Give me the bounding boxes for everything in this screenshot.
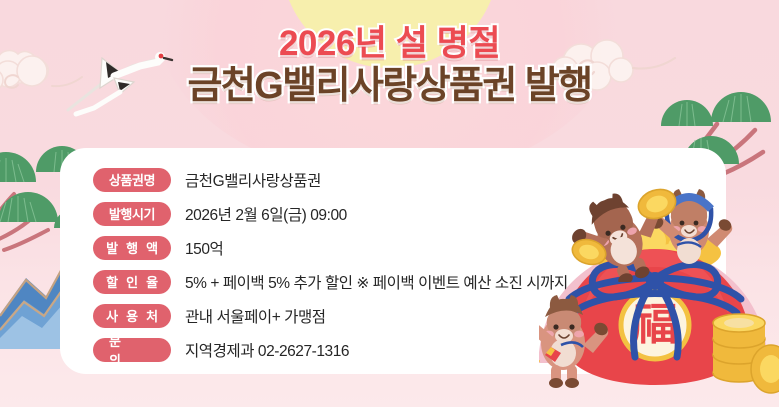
info-row-label: 문 의 bbox=[93, 338, 171, 362]
info-row-label: 할 인 율 bbox=[93, 270, 171, 294]
title-line-2: 금천G밸리사랑상품권 발행 bbox=[0, 67, 779, 105]
info-row-value: 관내 서울페이+ 가맹점 bbox=[185, 305, 326, 327]
info-row-label: 발행시기 bbox=[93, 202, 171, 226]
info-row: 문 의지역경제과 02-2627-1316 bbox=[93, 336, 568, 363]
info-row-value: 2026년 2월 6일(금) 09:00 bbox=[185, 203, 347, 225]
banner-title: 2026년 설 명절 금천G밸리사랑상품권 발행 bbox=[0, 26, 779, 105]
info-row: 사 용 처관내 서울페이+ 가맹점 bbox=[93, 302, 568, 329]
info-row-value: 150억 bbox=[185, 237, 223, 259]
info-row: 발행시기2026년 2월 6일(금) 09:00 bbox=[93, 200, 568, 227]
info-row-value: 금천G밸리사랑상품권 bbox=[185, 169, 321, 191]
info-row-list: 상품권명금천G밸리사랑상품권발행시기2026년 2월 6일(금) 09:00발 … bbox=[93, 166, 568, 363]
info-row: 발 행 액150억 bbox=[93, 234, 568, 261]
info-row-label: 사 용 처 bbox=[93, 304, 171, 328]
gold-coin-icon bbox=[571, 238, 607, 266]
info-row-label: 발 행 액 bbox=[93, 236, 171, 260]
info-row-label: 상품권명 bbox=[93, 168, 171, 192]
nye-gift-certificate-banner: 2026년 설 명절 금천G밸리사랑상품권 발행 상품권명금천G밸리사랑상품권발… bbox=[0, 0, 779, 407]
title-line-1: 2026년 설 명절 bbox=[0, 26, 779, 61]
info-row-value: 5% + 페이백 5% 추가 할인 ※ 페이백 이벤트 예산 소진 시까지 bbox=[185, 271, 568, 293]
info-row-value: 지역경제과 02-2627-1316 bbox=[185, 339, 349, 361]
info-row: 할 인 율5% + 페이백 5% 추가 할인 ※ 페이백 이벤트 예산 소진 시… bbox=[93, 268, 568, 295]
gold-coin-icon bbox=[637, 188, 677, 220]
info-row: 상품권명금천G밸리사랑상품권 bbox=[93, 166, 568, 193]
